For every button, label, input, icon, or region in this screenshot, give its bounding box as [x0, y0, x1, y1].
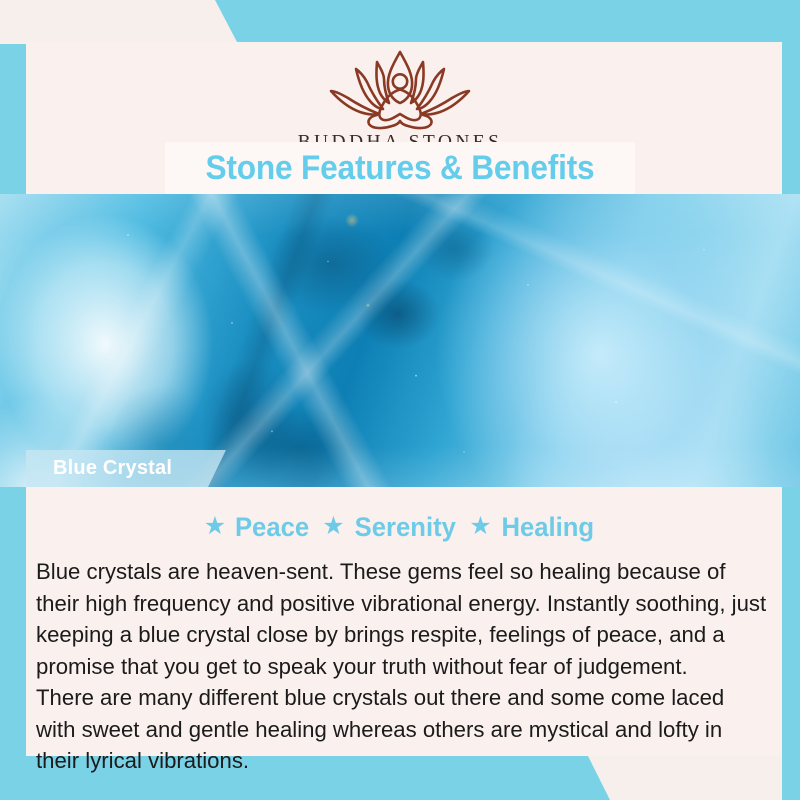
crystal-hero-image	[0, 194, 800, 487]
benefit-label-healing: Healing	[501, 512, 594, 543]
benefit-item-healing: ★ Healing	[469, 512, 596, 543]
description-text: Blue crystals are heaven-sent. These gem…	[36, 556, 767, 777]
lotus-meditation-figure-icon	[317, 46, 483, 130]
benefit-label-serenity: Serenity	[354, 512, 455, 543]
crystal-name-badge: Blue Crystal	[26, 450, 226, 487]
brand-logo-block: BUDDHA STONES	[0, 46, 800, 154]
benefit-label-peace: Peace	[235, 512, 309, 543]
star-icon: ★	[204, 514, 226, 539]
page-title: Stone Features & Benefits	[28, 142, 772, 194]
stone-features-card: BUDDHA STONES Stone Features & Benefits …	[0, 0, 800, 800]
star-icon: ★	[469, 514, 491, 539]
benefits-row: ★ Peace ★ Serenity ★ Healing	[0, 512, 800, 543]
hero-image-vignette-layer	[0, 194, 800, 487]
benefit-item-peace: ★ Peace	[204, 512, 312, 543]
description-paragraph-1: Blue crystals are heaven-sent. These gem…	[36, 556, 767, 682]
benefit-item-serenity: ★ Serenity	[322, 512, 458, 543]
star-icon: ★	[322, 514, 344, 539]
decor-band-top-right	[0, 0, 800, 42]
crystal-name-label: Blue Crystal	[26, 457, 172, 480]
description-paragraph-2: There are many different blue crystals o…	[36, 682, 767, 777]
